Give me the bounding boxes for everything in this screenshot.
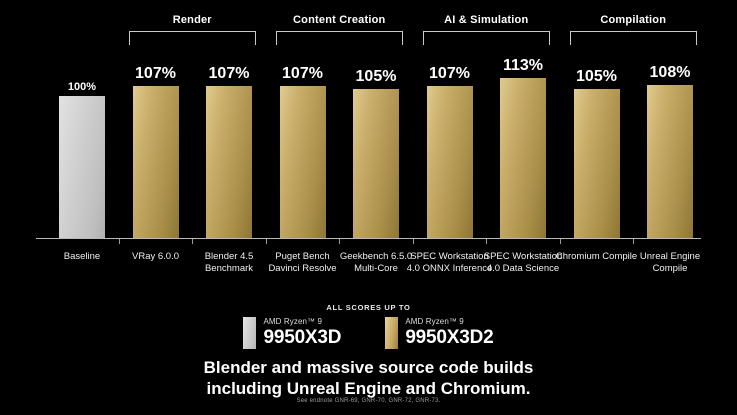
legend-model-comparison: 9950X3D2 bbox=[405, 327, 493, 348]
bar-slot: 108% bbox=[647, 0, 693, 245]
chart-bar[interactable] bbox=[133, 86, 179, 238]
chart-bar[interactable] bbox=[574, 89, 620, 238]
legend-brand-baseline: AMD Ryzen™ 9 bbox=[263, 317, 341, 327]
axis-tick bbox=[633, 239, 634, 244]
legend-item-comparison: AMD Ryzen™ 9 9950X3D2 bbox=[385, 317, 493, 349]
legend-text-comparison: AMD Ryzen™ 9 9950X3D2 bbox=[405, 317, 493, 349]
all-scores-up-to-label: ALL SCORES UP TO bbox=[0, 303, 737, 312]
category-label: Unreal Engine Compile bbox=[627, 251, 713, 275]
bar-value-label: 107% bbox=[121, 65, 191, 83]
legend-brand-comparison: AMD Ryzen™ 9 bbox=[405, 317, 493, 327]
bar-slot: 105% bbox=[353, 0, 399, 245]
endnote-text: See endnote GNR-69, GNR-70, GNR-72, GNR-… bbox=[0, 398, 737, 404]
bar-value-label: 100% bbox=[47, 81, 117, 93]
bar-value-label: 107% bbox=[194, 65, 264, 83]
benchmark-chart-slide: RenderContent CreationAI & SimulationCom… bbox=[0, 0, 737, 415]
chart-bar[interactable] bbox=[280, 86, 326, 238]
chart-bar[interactable] bbox=[647, 85, 693, 238]
bar-value-label: 105% bbox=[341, 68, 411, 86]
axis-tick bbox=[192, 239, 193, 244]
bar-slot: 107% bbox=[427, 0, 473, 245]
axis-tick bbox=[119, 239, 120, 244]
chart-plot-area: 100%107%107%107%105%107%113%105%108% bbox=[0, 0, 737, 245]
axis-tick bbox=[339, 239, 340, 244]
bar-value-label: 107% bbox=[415, 65, 485, 83]
axis-tick bbox=[486, 239, 487, 244]
chart-bar[interactable] bbox=[500, 78, 546, 238]
bar-slot: 105% bbox=[574, 0, 620, 245]
slide-caption: Blender and massive source code builds i… bbox=[0, 357, 737, 399]
bar-value-label: 105% bbox=[562, 68, 632, 86]
legend-item-baseline: AMD Ryzen™ 9 9950X3D bbox=[243, 317, 341, 349]
legend-text-baseline: AMD Ryzen™ 9 9950X3D bbox=[263, 317, 341, 349]
bar-slot: 113% bbox=[500, 0, 546, 245]
bar-slot: 107% bbox=[206, 0, 252, 245]
chart-bar[interactable] bbox=[427, 86, 473, 238]
axis-tick bbox=[266, 239, 267, 244]
bar-slot: 107% bbox=[280, 0, 326, 245]
bar-value-label: 113% bbox=[488, 57, 558, 75]
chart-bar[interactable] bbox=[59, 96, 105, 238]
axis-tick bbox=[560, 239, 561, 244]
legend-swatch-gold-icon bbox=[385, 317, 398, 349]
bar-value-label: 107% bbox=[268, 65, 338, 83]
chart-legend: AMD Ryzen™ 9 9950X3D AMD Ryzen™ 9 9950X3… bbox=[0, 317, 737, 349]
x-axis-line bbox=[36, 238, 701, 239]
bar-slot: 100% bbox=[59, 0, 105, 245]
bar-slot: 107% bbox=[133, 0, 179, 245]
bar-value-label: 108% bbox=[635, 64, 705, 82]
legend-swatch-gray-icon bbox=[243, 317, 256, 349]
chart-bar[interactable] bbox=[353, 89, 399, 238]
chart-bar[interactable] bbox=[206, 86, 252, 238]
legend-model-baseline: 9950X3D bbox=[263, 327, 341, 348]
axis-tick bbox=[413, 239, 414, 244]
